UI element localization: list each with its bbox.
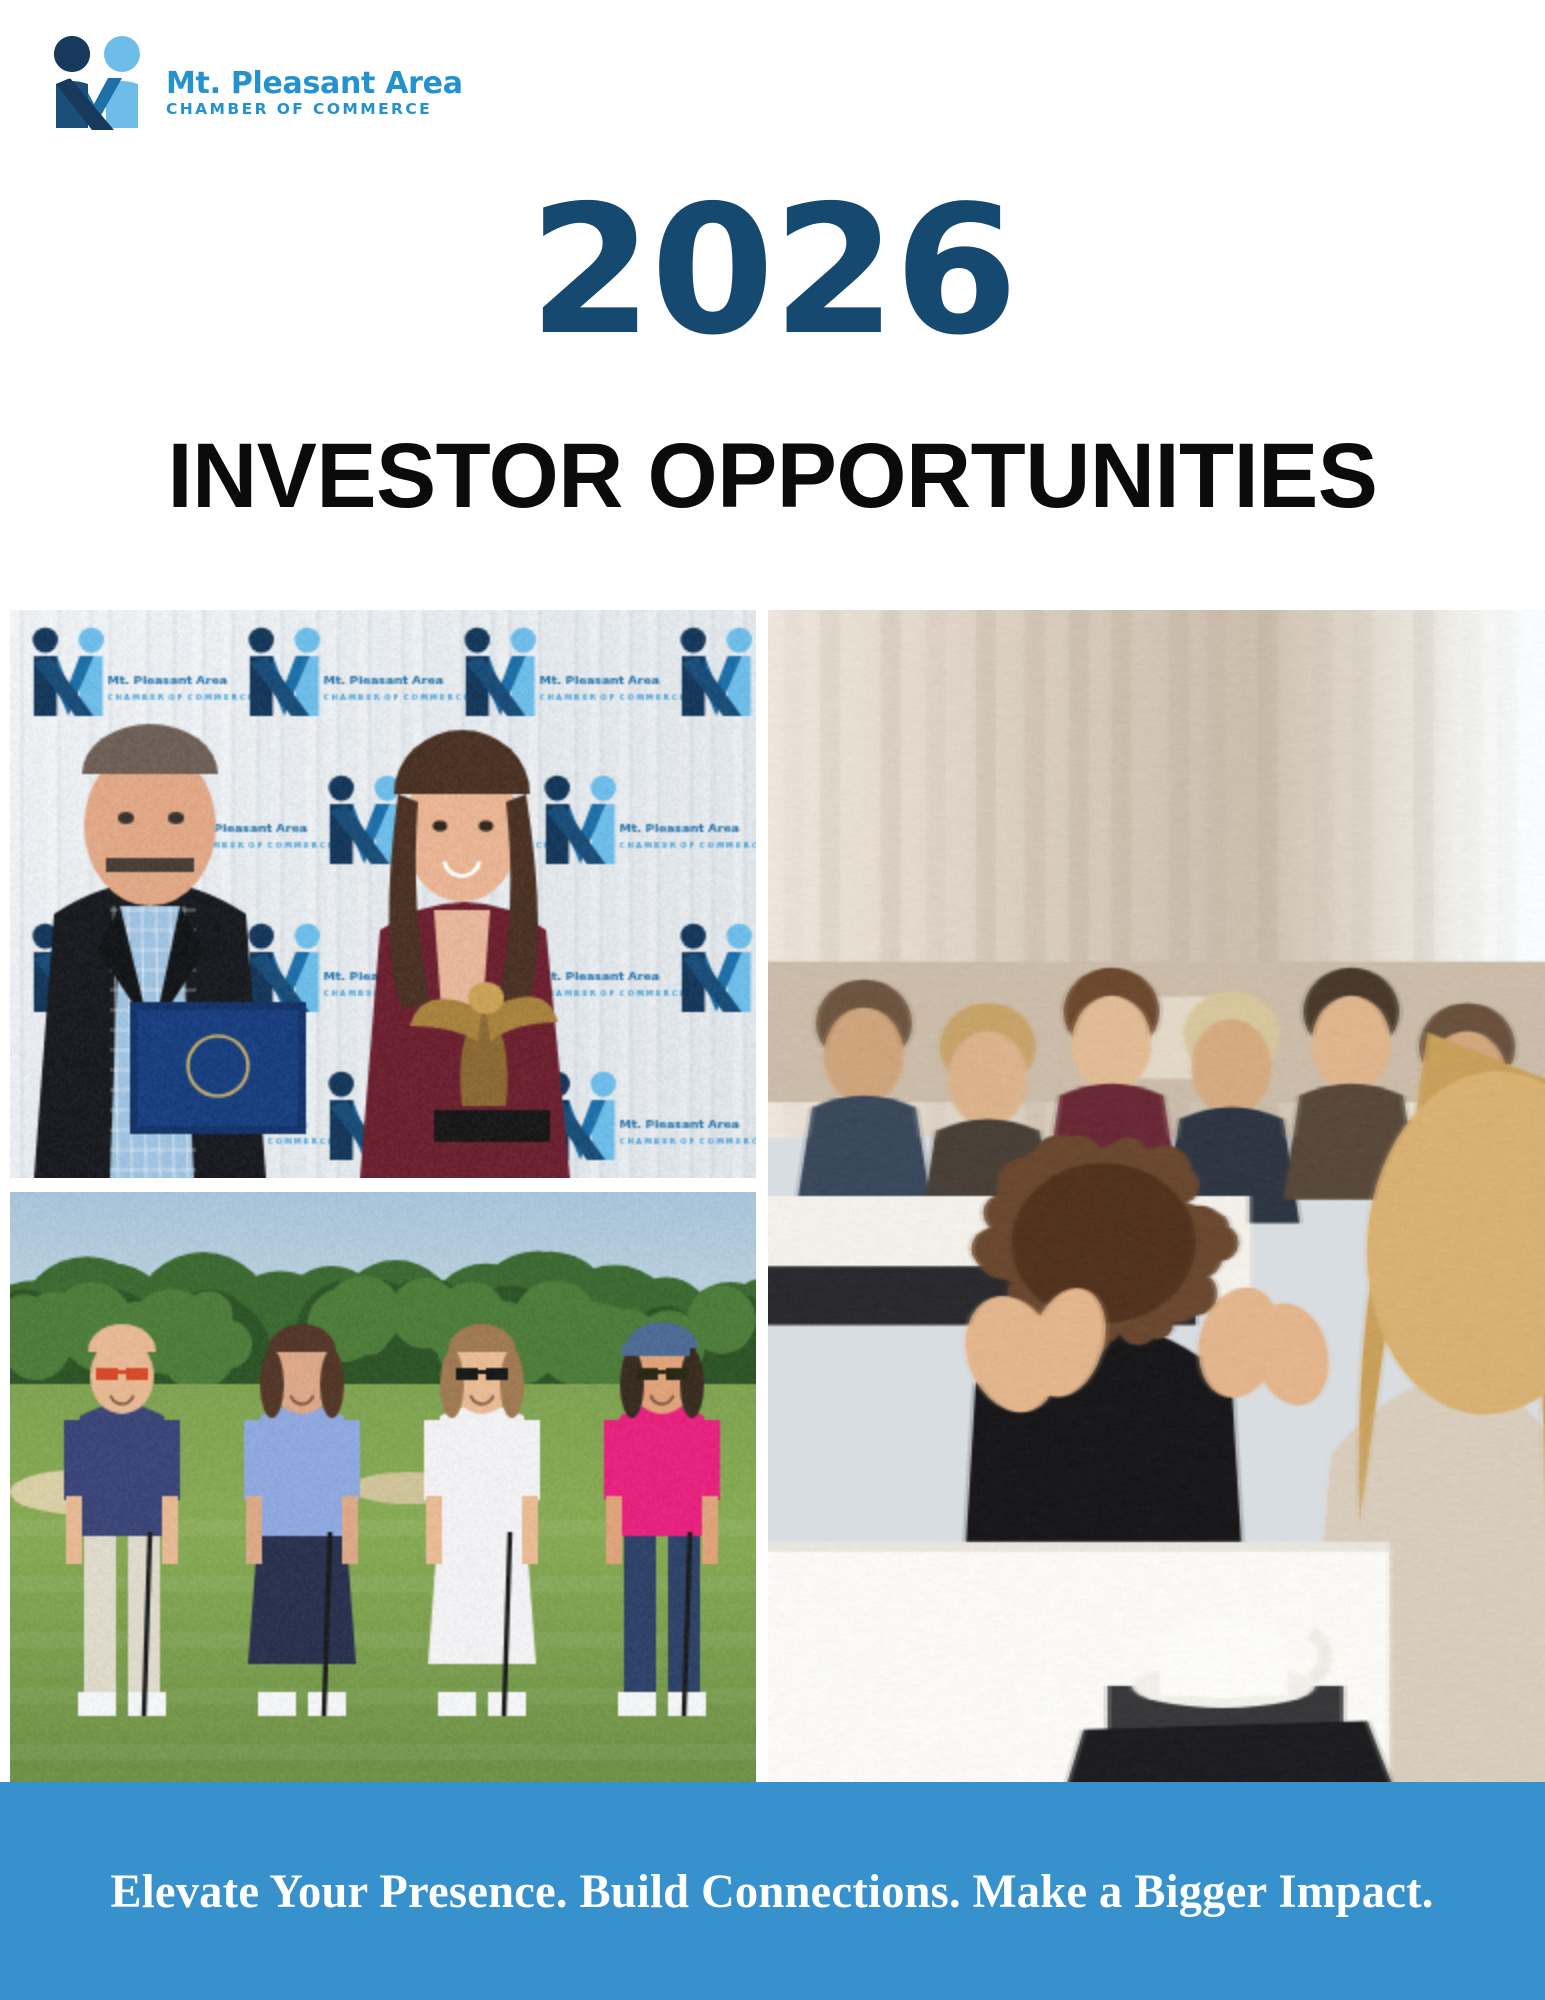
- page-title: INVESTOR OPPORTUNITIES: [15, 430, 1529, 522]
- cover-page: Mt. Pleasant Area CHAMBER OF COMMERCE 20…: [0, 0, 1545, 2000]
- award-presentation-photo: [10, 610, 756, 1178]
- tagline-text: Elevate Your Presence. Build Connections…: [111, 1864, 1434, 1919]
- chamber-name-line2: CHAMBER OF COMMERCE: [166, 99, 463, 119]
- golf-outing-photo: [10, 1192, 756, 1782]
- chamber-name-line1: Mt. Pleasant Area: [166, 69, 463, 100]
- chamber-logo[interactable]: Mt. Pleasant Area CHAMBER OF COMMERCE: [48, 34, 463, 130]
- meeting-audience-photo: [768, 610, 1545, 1782]
- chamber-m-people-logo: [48, 34, 152, 130]
- tagline-banner: Elevate Your Presence. Build Connections…: [0, 1782, 1545, 2000]
- chamber-logo-text: Mt. Pleasant Area CHAMBER OF COMMERCE: [166, 45, 463, 120]
- year-heading: 2026: [0, 182, 1545, 360]
- photo-collage: [0, 610, 1545, 1782]
